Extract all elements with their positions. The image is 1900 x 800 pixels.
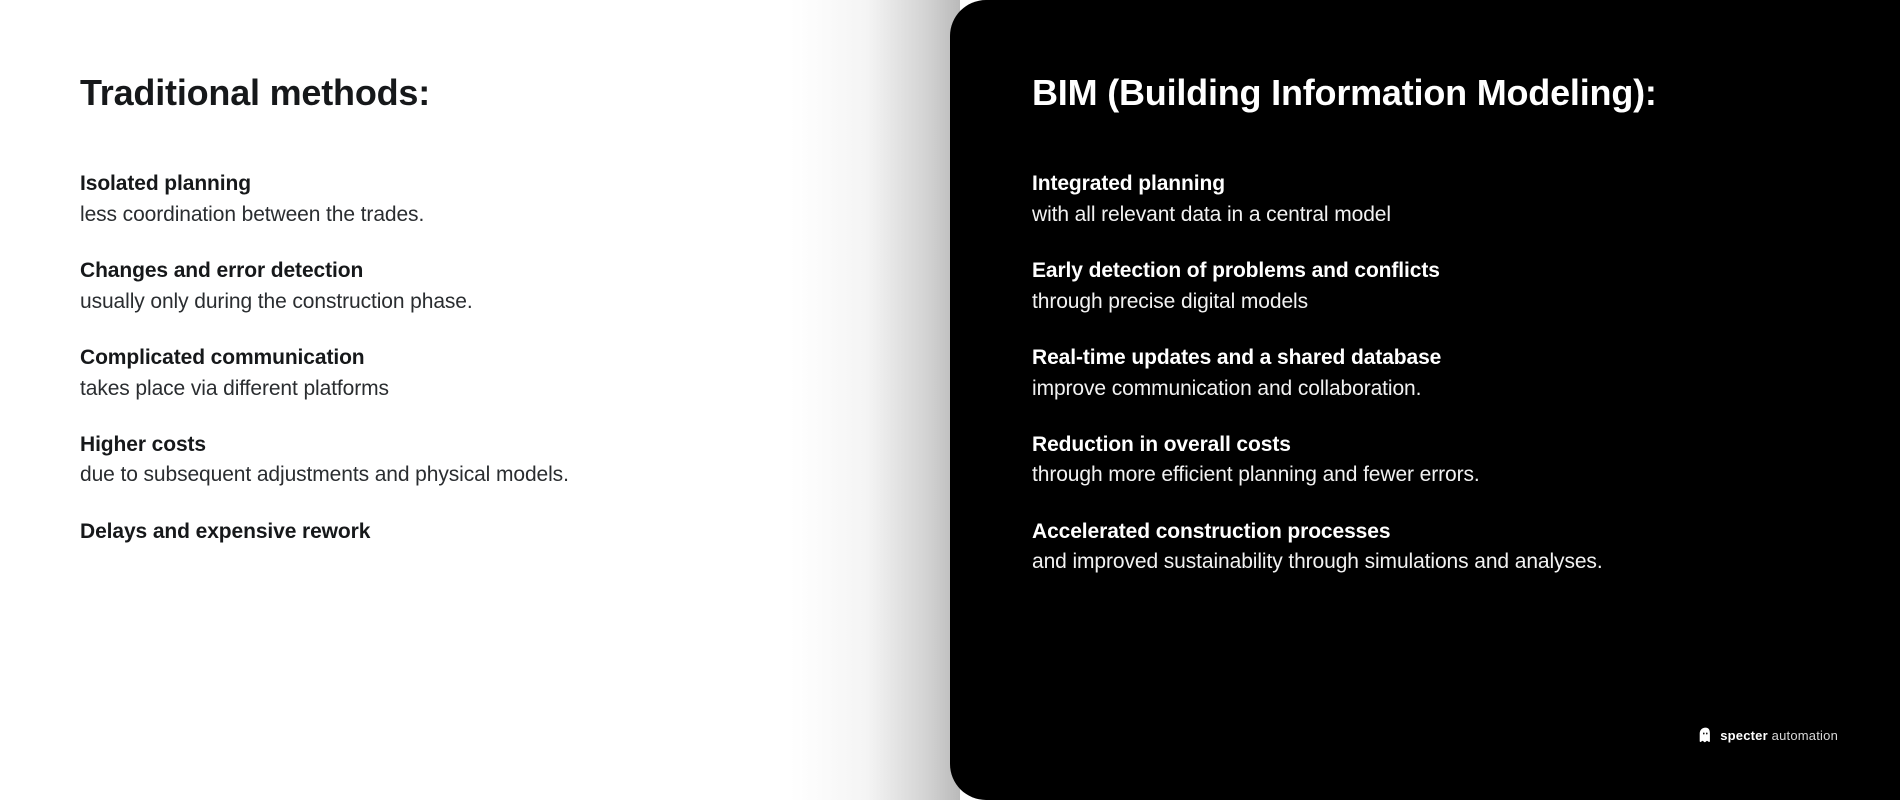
item-title: Complicated communication — [80, 343, 870, 373]
item-title: Delays and expensive rework — [80, 517, 870, 547]
item-description: takes place via different platforms — [80, 374, 870, 404]
item-title: Reduction in overall costs — [1032, 430, 1900, 460]
comparison-slide: Traditional methods: Isolated planning l… — [0, 0, 1900, 800]
brand-wordmark: specter automation — [1720, 728, 1838, 743]
item-title: Isolated planning — [80, 169, 870, 199]
list-item: Reduction in overall costs through more … — [1032, 430, 1900, 491]
item-title: Real-time updates and a shared database — [1032, 343, 1900, 373]
item-description: due to subsequent adjustments and physic… — [80, 460, 870, 490]
item-title: Early detection of problems and conflict… — [1032, 256, 1900, 286]
left-column-heading: Traditional methods: — [80, 72, 870, 113]
list-item: Delays and expensive rework — [80, 517, 870, 547]
item-description: usually only during the construction pha… — [80, 287, 870, 317]
list-item: Higher costs due to subsequent adjustmen… — [80, 430, 870, 491]
item-description: and improved sustainability through simu… — [1032, 547, 1900, 577]
item-title: Accelerated construction processes — [1032, 517, 1900, 547]
list-item: Integrated planning with all relevant da… — [1032, 169, 1900, 230]
bim-column: BIM (Building Information Modeling): Int… — [950, 0, 1900, 800]
item-description: through more efficient planning and fewe… — [1032, 460, 1900, 490]
item-description: less coordination between the trades. — [80, 200, 870, 230]
list-item: Accelerated construction processes and i… — [1032, 517, 1900, 578]
brand-suffix-text: automation — [1772, 728, 1838, 743]
item-title: Higher costs — [80, 430, 870, 460]
list-item: Real-time updates and a shared database … — [1032, 343, 1900, 404]
list-item: Changes and error detection usually only… — [80, 256, 870, 317]
item-description: through precise digital models — [1032, 287, 1900, 317]
brand-logo: specter automation — [1698, 727, 1838, 744]
item-title: Changes and error detection — [80, 256, 870, 286]
brand-name: specter — [1720, 728, 1768, 743]
item-description: with all relevant data in a central mode… — [1032, 200, 1900, 230]
list-item: Early detection of problems and conflict… — [1032, 256, 1900, 317]
item-description: improve communication and collaboration. — [1032, 374, 1900, 404]
bim-benefits-list: Integrated planning with all relevant da… — [1032, 169, 1900, 577]
list-item: Complicated communication takes place vi… — [80, 343, 870, 404]
traditional-methods-list: Isolated planning less coordination betw… — [80, 169, 870, 547]
list-item: Isolated planning less coordination betw… — [80, 169, 870, 230]
item-title: Integrated planning — [1032, 169, 1900, 199]
right-column-heading: BIM (Building Information Modeling): — [1032, 72, 1900, 113]
traditional-methods-column: Traditional methods: Isolated planning l… — [80, 0, 870, 800]
ghost-icon — [1698, 727, 1713, 744]
